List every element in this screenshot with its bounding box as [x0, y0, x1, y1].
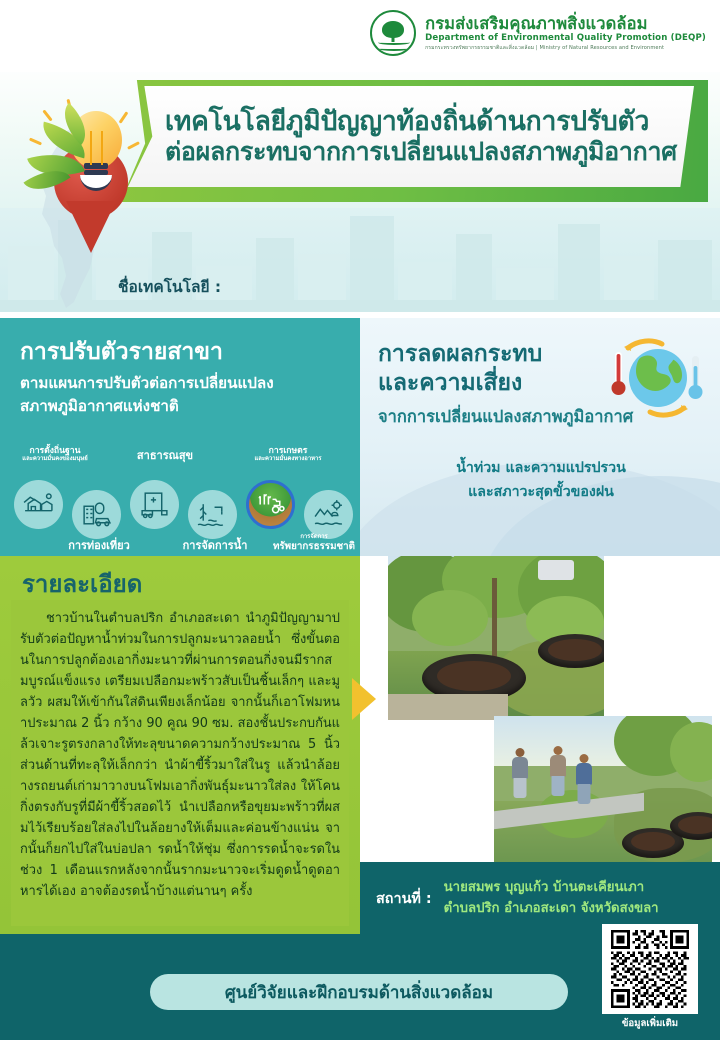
tree-water-seal-icon [370, 10, 416, 56]
photo-villagers-at-pond [494, 716, 712, 862]
detail-body-text: ชาวบ้านในตำบลปริก อำเภอสะเดา นำภูมิปัญญา… [20, 608, 340, 902]
impact-body-line-1: น้ำท่วม และความแปรปรวน [378, 456, 704, 480]
adaptation-sectors-panel: การปรับตัวรายสาขา ตามแผนการปรับตัวต่อการ… [0, 318, 360, 556]
impact-reduction-panel: การลดผลกระทบ และความเสี่ยง จากการเปลี่ยน… [360, 318, 720, 556]
main-title-plate: เทคโนโลยีภูมิปัญญาท้องถิ่นด้านการปรับตัว… [118, 80, 708, 202]
title-plate-white-face: เทคโนโลยีภูมิปัญญาท้องถิ่นด้านการปรับตัว… [125, 86, 694, 187]
qr-code-icon[interactable] [602, 924, 698, 1014]
sector-label-water-management: การจัดการน้ำ [170, 540, 260, 553]
org-name-thai: กรมส่งเสริมคุณภาพสิ่งแวดล้อม [425, 15, 706, 32]
sector-icon-river-faucet-icon[interactable] [188, 490, 237, 539]
poster-title-line-2: ต่อผลกระทบจากการเปลี่ยนแปลงสภาพภูมิอากาศ [165, 137, 694, 167]
adaptation-subheading-line-1: ตามแผนการปรับตัวต่อการเปลี่ยนแปลง [20, 372, 344, 395]
detail-section: รายละเอียด ชาวบ้านในตำบลปริก อำเภอสะเดา … [0, 556, 360, 934]
place-line-2: ตำบลปริก อำเภอสะเดา จังหวัดสงขลา [444, 898, 659, 919]
sector-label-agriculture: การเกษตร และความมั่นคงทางอาหาร [236, 446, 340, 463]
footer-center-pill[interactable]: ศูนย์วิจัยและฝึกอบรมด้านสิ่งแวดล้อม [150, 974, 568, 1010]
lightbulb-leaf-map-pin-icon [22, 105, 142, 255]
sector-icon-farm-tractor-crops-icon[interactable] [246, 480, 295, 529]
sector-label-settlement: การตั้งถิ่นฐาน และความมั่นคงของมนุษย์ [10, 446, 100, 463]
place-line-1: นายสมพร บุญแก้ว บ้านตะเคียนเภา [444, 877, 659, 898]
yellow-arrow-right-icon [352, 676, 386, 722]
footer-left-fill [0, 934, 150, 1040]
deqp-logo-block: กรมส่งเสริมคุณภาพสิ่งแวดล้อม Department … [370, 10, 706, 56]
place-label: สถานที่ : [376, 887, 432, 910]
technology-name-label: ชื่อเทคโนโลยี : [118, 274, 221, 299]
footer-center-text: ศูนย์วิจัยและฝึกอบรมด้านสิ่งแวดล้อม [225, 979, 493, 1006]
detail-body-box: ชาวบ้านในตำบลปริก อำเภอสะเดา นำภูมิปัญญา… [11, 600, 349, 926]
adaptation-subheading-line-2: สภาพภูมิอากาศแห่งชาติ [20, 395, 344, 418]
sector-icon-hospital-ambulance-icon[interactable] [130, 480, 179, 529]
detail-heading: รายละเอียด [22, 564, 142, 603]
sector-icon-mountain-forest-river-icon[interactable] [304, 490, 353, 539]
org-ministry-line: กรมกระทรวงทรัพยากรธรรมชาติและสิ่งแวดล้อม… [425, 46, 706, 51]
photo-lime-tree-in-tyre [388, 556, 604, 720]
sector-icons-row: การตั้งถิ่นฐาน และความมั่นคงของมนุษย์ สา… [8, 468, 360, 552]
sector-label-tourism: การท่องเที่ยว [54, 540, 144, 553]
sector-icon-village-houses-icon[interactable] [14, 480, 63, 529]
page-header: กรมส่งเสริมคุณภาพสิ่งแวดล้อม Department … [0, 0, 720, 72]
sector-label-natural-resources: การจัดการ ทรัพยากรธรรมชาติ [264, 534, 364, 553]
globe-thermometer-climate-icon [604, 330, 708, 426]
qr-caption: ข้อมูลเพิ่มเติม [602, 1016, 698, 1031]
impact-body-line-2: และสภาวะสุดขั้วของฝน [378, 480, 704, 504]
poster-title-line-1: เทคโนโลยีภูมิปัญญาท้องถิ่นด้านการปรับตัว [165, 106, 694, 137]
poster-root: เทคโนโลยีภูมิปัญญาท้องถิ่นด้านการปรับตัว… [0, 0, 720, 1040]
hero-band: เทคโนโลยีภูมิปัญญาท้องถิ่นด้านการปรับตัว… [0, 60, 720, 312]
sector-label-public-health: สาธารณสุข [120, 450, 210, 463]
adaptation-heading: การปรับตัวรายสาขา [20, 338, 344, 367]
org-name-english: Department of Environmental Quality Prom… [425, 34, 706, 43]
sector-icon-city-car-tourism-icon[interactable] [72, 490, 121, 539]
